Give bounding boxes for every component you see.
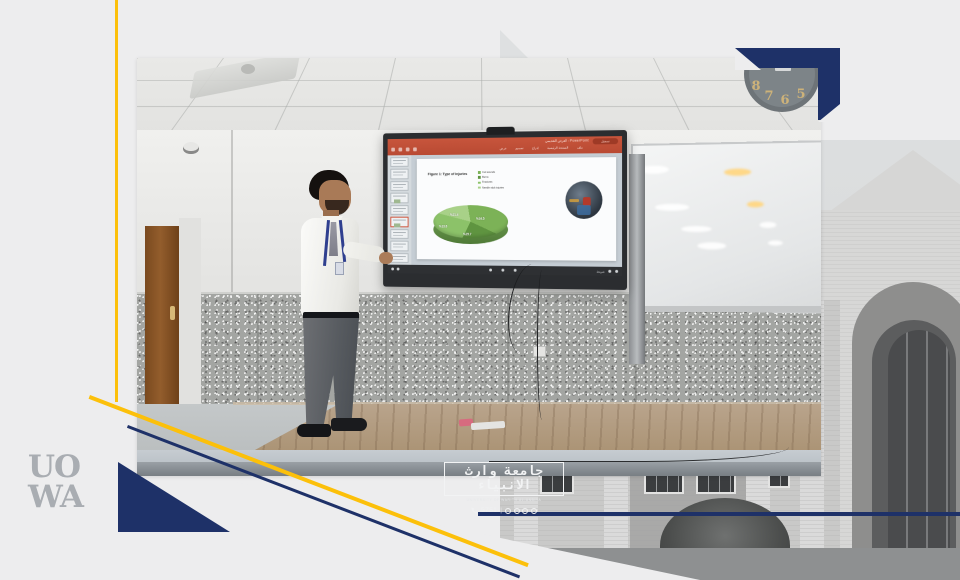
whiteboard-glare <box>681 226 712 232</box>
whiteboard-glare <box>655 204 689 211</box>
chart-title: Figure 1: Type of injuries <box>428 172 467 176</box>
presenter-id-badge <box>335 262 344 275</box>
presenter-hand <box>379 252 393 264</box>
display-mount-post <box>629 154 645 364</box>
powerpoint-status-bar[interactable]: شريحة <box>388 265 622 276</box>
presenter-shoe <box>331 418 367 431</box>
pie-chart: %34.5 %25.7 %21.4 %13.6 <box>431 199 509 250</box>
university-logo-arabic: جامعة وارث الانبياء <box>444 462 564 496</box>
redo-icon[interactable] <box>406 147 410 151</box>
facebook-icon[interactable] <box>505 508 511 514</box>
presenter-shoe <box>297 424 331 437</box>
instagram-icon[interactable] <box>514 508 520 514</box>
zoom-out-icon[interactable] <box>608 270 611 273</box>
reading-view-icon[interactable] <box>513 269 516 272</box>
wall-corner-seam <box>231 130 233 298</box>
legend-item: Cut wounds <box>478 171 504 174</box>
pie-value-label: %21.4 <box>450 213 458 217</box>
uowa-monogram: UO WA <box>28 452 108 512</box>
quick-access-toolbar[interactable] <box>391 147 417 151</box>
chart-legend: Cut wounds Burns Fractures <box>478 171 504 189</box>
svg-text:8: 8 <box>751 79 760 94</box>
legend-label: Cut wounds <box>482 171 495 174</box>
slide-thumbnail[interactable] <box>390 193 408 203</box>
accent-rule-vertical-yellow <box>115 0 118 402</box>
svg-text:7: 7 <box>764 89 773 104</box>
youtube-icon[interactable] <box>531 508 537 514</box>
watermark-contact: 5751 | <box>444 507 564 514</box>
tab-insert[interactable]: إدراج <box>532 146 538 150</box>
slide-count-label: شريحة <box>597 269 605 273</box>
poster-canvas: العرض التقديمي - PowerPoint تسجيل ملف ال… <box>0 0 960 580</box>
slide-thumbnail-active[interactable] <box>390 217 408 227</box>
slide-thumbnail[interactable] <box>390 229 408 239</box>
slide-thumbnail[interactable] <box>390 253 408 263</box>
tab-home[interactable]: الصفحة الرئيسية <box>547 146 568 150</box>
slide-view-icon[interactable] <box>391 268 394 271</box>
presenter <box>279 170 387 470</box>
legend-swatch <box>478 176 480 178</box>
ceiling-fan-hub <box>241 64 255 74</box>
legend-swatch <box>478 171 480 173</box>
ribbon-tabs[interactable]: ملف الصفحة الرئيسية إدراج تصميم عرض <box>500 146 583 151</box>
legend-item: Burns <box>478 176 504 179</box>
watermark-socials[interactable] <box>505 508 537 514</box>
slide-thumbnail[interactable] <box>390 157 408 167</box>
display-camera-icon <box>486 127 514 135</box>
present-icon[interactable] <box>413 147 417 151</box>
slide-thumbnail-panel[interactable] <box>388 155 412 265</box>
interactive-display[interactable]: العرض التقديمي - PowerPoint تسجيل ملف ال… <box>383 130 627 290</box>
tab-view[interactable]: عرض <box>500 146 507 150</box>
whiteboard-glare <box>760 222 777 228</box>
whiteboard <box>631 140 821 314</box>
zoom-in-icon[interactable] <box>615 270 618 273</box>
outline-view-icon[interactable] <box>397 268 400 271</box>
tab-design[interactable]: تصميم <box>515 146 523 150</box>
whiteboard-glare <box>724 168 751 176</box>
normal-view-icon[interactable] <box>489 269 492 272</box>
watermark-divider: | <box>500 507 502 514</box>
tab-file[interactable]: ملف <box>577 146 583 150</box>
slide-thumbnail[interactable] <box>390 181 408 191</box>
presenter-trousers <box>303 318 359 428</box>
pie-value-label: %34.5 <box>476 217 484 221</box>
inset-photo-detail <box>569 199 579 202</box>
pie-value-label: %13.6 <box>439 225 447 229</box>
pie-value-label: %25.7 <box>463 232 471 236</box>
university-watermark: جامعة وارث الانبياء UNIVERSITY OF WARITH… <box>444 462 564 514</box>
whiteboard-tray <box>631 306 821 312</box>
door-handle <box>170 306 175 320</box>
status-right-controls[interactable]: شريحة <box>597 269 619 273</box>
save-icon[interactable] <box>391 148 395 152</box>
svg-text:6: 6 <box>780 93 789 108</box>
arch-glass <box>888 330 950 580</box>
powerpoint-title: العرض التقديمي - PowerPoint <box>545 138 589 142</box>
svg-text:5: 5 <box>796 87 805 102</box>
uowa-line-1: UO <box>28 452 108 482</box>
university-logo-subtitle: UNIVERSITY OF WARITH AL-ANBIYA <box>444 498 564 502</box>
wall-clock-icon: 8 7 6 5 <box>742 60 822 130</box>
presenter-shirt <box>301 218 359 316</box>
whiteboard-glare <box>768 240 783 245</box>
slide-thumbnail[interactable] <box>390 169 408 179</box>
legend-label: Fractures <box>482 181 492 184</box>
whiteboard-glare <box>697 242 726 249</box>
security-camera-icon <box>183 142 199 154</box>
whiteboard-glare <box>747 201 764 207</box>
uowa-line-2: WA <box>28 482 108 512</box>
telegram-icon[interactable] <box>522 508 528 514</box>
display-screen[interactable]: العرض التقديمي - PowerPoint تسجيل ملف ال… <box>388 136 622 276</box>
legend-swatch <box>478 186 480 188</box>
legend-label: Burns <box>482 176 488 179</box>
slide-thumbnail[interactable] <box>390 241 408 251</box>
sorter-view-icon[interactable] <box>501 269 504 272</box>
inset-photo-detail <box>577 205 591 215</box>
status-left-icons[interactable] <box>391 268 399 271</box>
display-cable <box>537 270 547 420</box>
legend-item: Fractures <box>478 181 504 184</box>
legend-label: Needle stick injuries <box>482 186 504 189</box>
classroom-photo: العرض التقديمي - PowerPoint تسجيل ملف ال… <box>137 58 821 476</box>
slide-inset-photo <box>565 181 602 219</box>
phone-icon <box>471 507 478 514</box>
legend-item: Needle stick injuries <box>478 186 504 189</box>
door-frame <box>179 218 201 412</box>
account-chip[interactable]: تسجيل <box>593 138 618 144</box>
slide-canvas[interactable]: Figure 1: Type of injuries Cut wounds Bu… <box>417 157 616 261</box>
wainscot-seam <box>257 294 259 412</box>
legend-swatch <box>478 181 480 183</box>
slide-thumbnail[interactable] <box>390 205 408 215</box>
undo-icon[interactable] <box>399 148 403 152</box>
floor-cable <box>489 432 789 462</box>
powerpoint-workspace: Figure 1: Type of injuries Cut wounds Bu… <box>388 153 622 267</box>
watermark-phone: 5751 <box>481 507 497 514</box>
